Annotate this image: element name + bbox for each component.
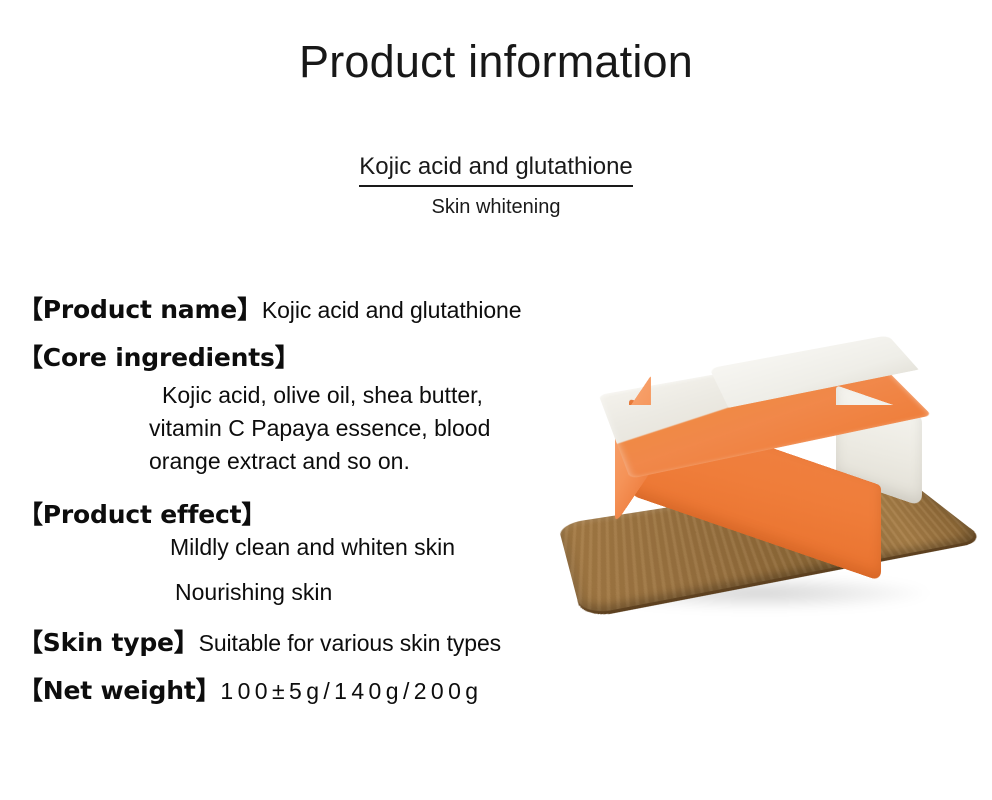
subtitle-primary: Kojic acid and glutathione (359, 154, 633, 187)
product-photo (560, 318, 992, 643)
spec-label-net-weight: 【Net weight】 (18, 676, 220, 705)
product-effect-line-2: Nourishing skin (18, 581, 578, 604)
core-ingredients-line-2: vitamin C Papaya essence, blood (18, 412, 578, 445)
spec-label-product-name: 【Product name】 (18, 295, 262, 324)
spec-label-core-ingredients: 【Core ingredients】 (18, 343, 300, 372)
spec-value-skin-type: Suitable for various skin types (199, 630, 501, 656)
spec-row-product-effect: 【Product effect】 (18, 502, 578, 528)
subtitle-secondary: Skin whitening (0, 196, 992, 219)
spec-label-product-effect: 【Product effect】 (18, 500, 266, 529)
soap-white-layer-top (709, 335, 918, 408)
spec-label-skin-type: 【Skin type】 (18, 628, 199, 657)
core-ingredients-line-3: orange extract and so on. (18, 445, 578, 478)
spec-value-product-name: Kojic acid and glutathione (262, 297, 522, 323)
core-ingredients-line-1: Kojic acid, olive oil, shea butter, (18, 379, 578, 412)
page-title: Product information (0, 36, 992, 88)
spec-value-product-effect: Mildly clean and whiten skin Nourishing … (18, 536, 578, 604)
specification-list: 【Product name】Kojic acid and glutathione… (18, 297, 578, 704)
spec-row-net-weight: 【Net weight】100±5g/140g/200g (18, 678, 578, 704)
spec-value-net-weight: 100±5g/140g/200g (220, 678, 482, 704)
spec-value-core-ingredients: Kojic acid, olive oil, shea butter, vita… (18, 379, 578, 478)
spec-row-skin-type: 【Skin type】Suitable for various skin typ… (18, 630, 578, 656)
product-information-page: Product information Kojic acid and gluta… (0, 0, 992, 800)
subtitle-block: Kojic acid and glutathione Skin whitenin… (0, 154, 992, 219)
product-effect-line-1: Mildly clean and whiten skin (18, 536, 578, 559)
soap-bar (612, 330, 932, 580)
spec-row-core-ingredients: 【Core ingredients】 (18, 345, 578, 371)
spec-row-product-name: 【Product name】Kojic acid and glutathione (18, 297, 578, 323)
